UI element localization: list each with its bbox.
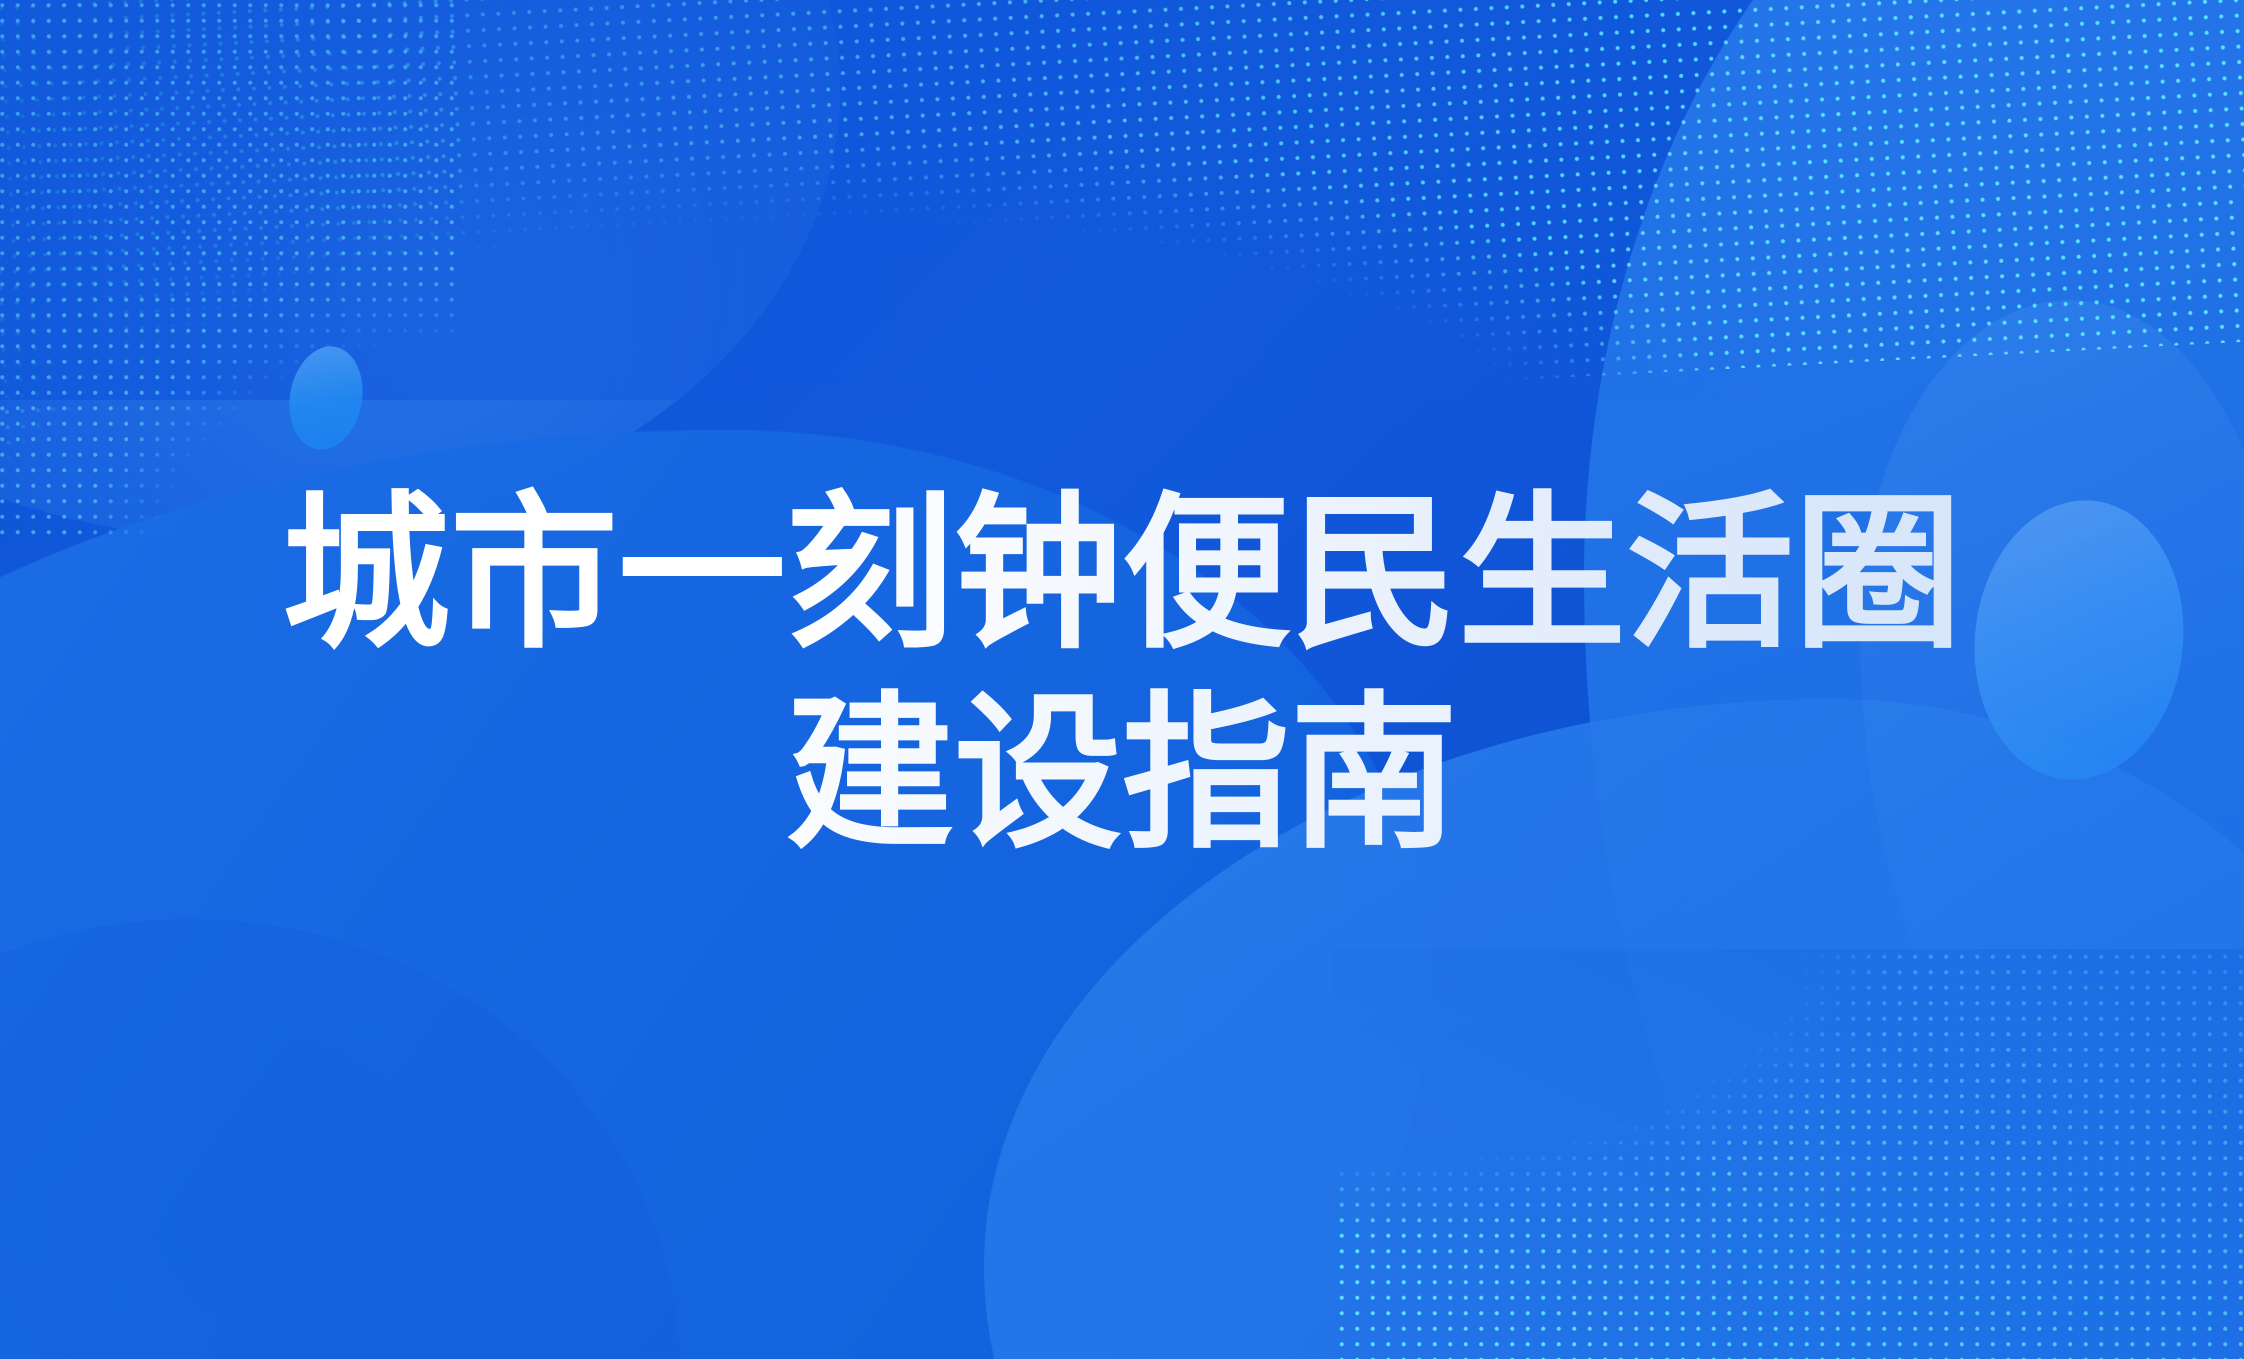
decor-dot-fade-top	[0, 0, 2244, 400]
poster-title-line-1: 城市一刻钟便民生活圈	[0, 474, 2244, 674]
decor-blob-top-left	[0, 0, 840, 540]
decor-dot-pattern-top	[0, 0, 2244, 462]
decor-blob-bottom-left	[0, 919, 680, 1359]
poster-canvas: 城市一刻钟便民生活圈 建设指南	[0, 0, 2244, 1359]
decor-dot-pattern-top-left	[0, 0, 460, 540]
decor-dot-fade-bottom-right	[1334, 949, 2244, 1359]
poster-title: 城市一刻钟便民生活圈 建设指南	[0, 474, 2244, 874]
decor-oval-small-left	[282, 341, 371, 456]
poster-title-line-2: 建设指南	[0, 674, 2244, 874]
decor-dot-pattern-bottom-right	[1334, 949, 2244, 1359]
